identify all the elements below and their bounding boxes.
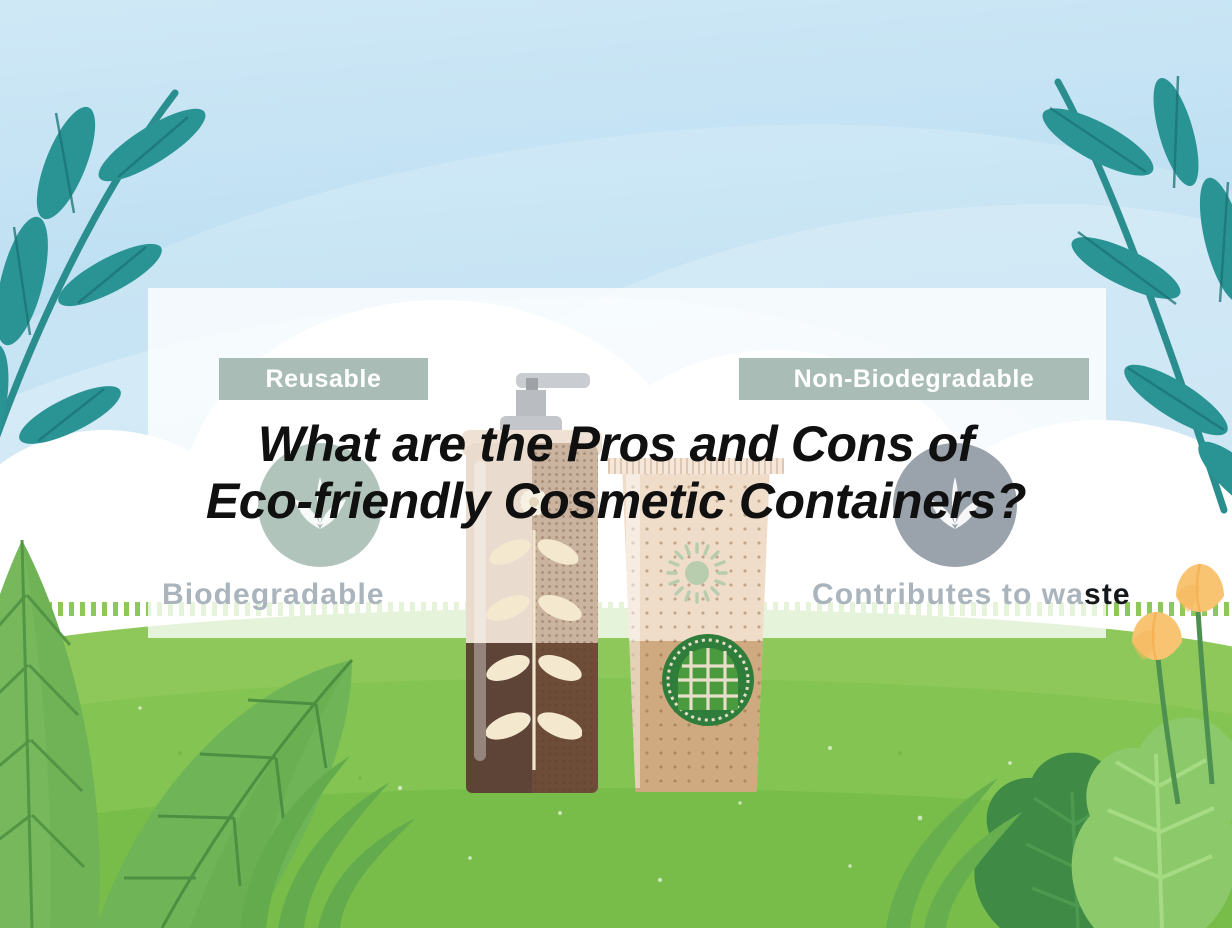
page-title-line-1: What are the Pros and Cons of	[0, 416, 1232, 473]
sublabel-waste-head: Contributes to wa	[812, 578, 1084, 611]
tag-non-biodegradable-label: Non-Biodegradable	[794, 365, 1035, 394]
hero-banner: Reusable Non-Biodegradable Biodegradable…	[0, 0, 1232, 928]
grass-blades-left-icon	[230, 740, 460, 928]
grass-blades-right-icon	[880, 760, 1070, 928]
sun-burst-icon	[664, 540, 730, 606]
tag-non-biodegradable: Non-Biodegradable	[739, 358, 1089, 400]
page-title-line-2: Eco-friendly Cosmetic Containers?	[0, 473, 1232, 530]
grid-window-icon	[660, 632, 756, 728]
tulip-flower-2-icon	[1126, 606, 1190, 806]
tag-reusable: Reusable	[219, 358, 428, 400]
tag-reusable-label: Reusable	[266, 365, 382, 394]
sublabel-waste-tail: ste	[1084, 578, 1131, 611]
page-title: What are the Pros and Cons of Eco-friend…	[0, 416, 1232, 530]
sublabel-contributes-to-waste: Contributes to waste	[812, 578, 1131, 612]
